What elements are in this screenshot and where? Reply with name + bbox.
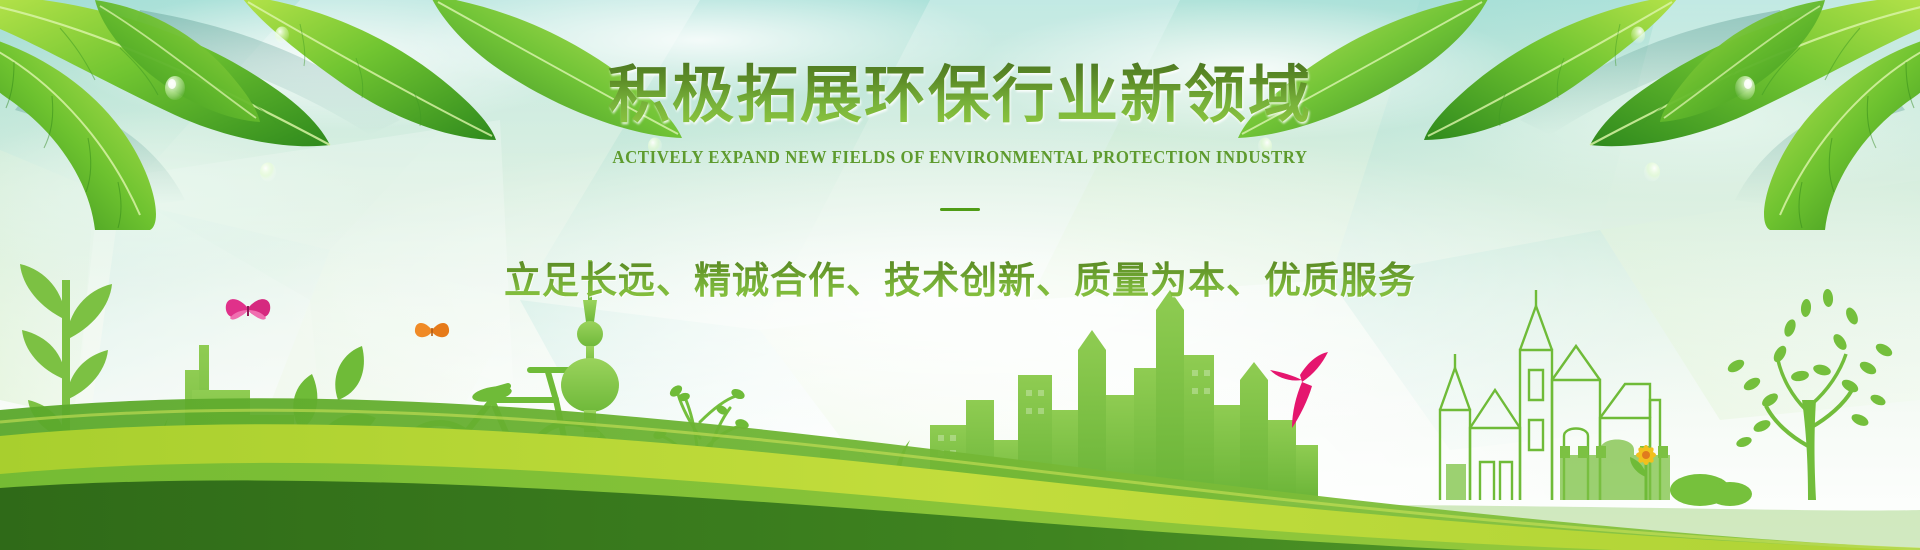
- company-slogan: 立足长远、精诚合作、技术创新、质量为本、优质服务: [0, 250, 1920, 304]
- divider-line: [940, 208, 980, 211]
- divider-wrapper: [0, 198, 1920, 218]
- banner-content: 积极拓展环保行业新领域 ACTIVELY EXPAND NEW FIELDS O…: [0, 0, 1920, 340]
- wave-bands: [0, 370, 1920, 550]
- eco-banner: 积极拓展环保行业新领域 ACTIVELY EXPAND NEW FIELDS O…: [0, 0, 1920, 550]
- page-title: 积极拓展环保行业新领域: [0, 62, 1920, 127]
- page-subtitle: ACTIVELY EXPAND NEW FIELDS OF ENVIRONMEN…: [38, 147, 1881, 168]
